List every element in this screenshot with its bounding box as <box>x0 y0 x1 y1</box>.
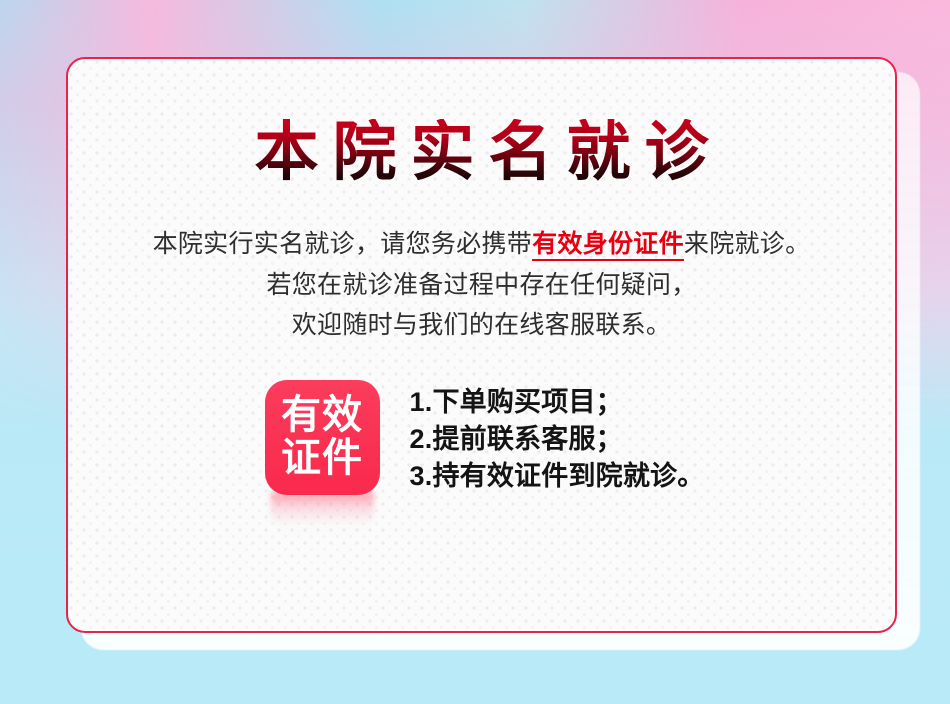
step-item-1: 1.下单购买项目； <box>410 384 705 421</box>
steps-section: 有效 证件 1.下单购买项目； 2.提前联系客服； 3.持有效证件到院就诊。 <box>68 380 895 496</box>
steps-list: 1.下单购买项目； 2.提前联系客服； 3.持有效证件到院就诊。 <box>410 380 705 496</box>
notice-line-1-suffix: 来院就诊。 <box>684 230 811 258</box>
notice-card: 本院实名就诊 本院实行实名就诊，请您务必携带有效身份证件来院就诊。 若您在就诊准… <box>66 57 897 633</box>
badge-reflection <box>271 492 374 532</box>
badge-line-1: 有效 <box>281 394 363 437</box>
notice-line-1-prefix: 本院实行实名就诊，请您务必携带 <box>153 230 533 258</box>
notice-line-1: 本院实行实名就诊，请您务必携带有效身份证件来院就诊。 <box>68 224 895 265</box>
notice-paragraph: 本院实行实名就诊，请您务必携带有效身份证件来院就诊。 若您在就诊准备过程中存在任… <box>68 224 895 346</box>
badge-line-2: 证件 <box>281 437 363 480</box>
notice-line-2: 若您在就诊准备过程中存在任何疑问， <box>68 265 895 306</box>
notice-line-3: 欢迎随时与我们的在线客服联系。 <box>68 305 895 346</box>
step-item-2: 2.提前联系客服； <box>410 421 705 458</box>
valid-id-badge-wrapper: 有效 证件 <box>265 380 380 495</box>
valid-id-badge: 有效 证件 <box>265 380 380 495</box>
step-item-3: 3.持有效证件到院就诊。 <box>410 458 705 495</box>
valid-id-highlight: 有效身份证件 <box>532 230 684 261</box>
page-title: 本院实名就诊 <box>68 119 895 186</box>
